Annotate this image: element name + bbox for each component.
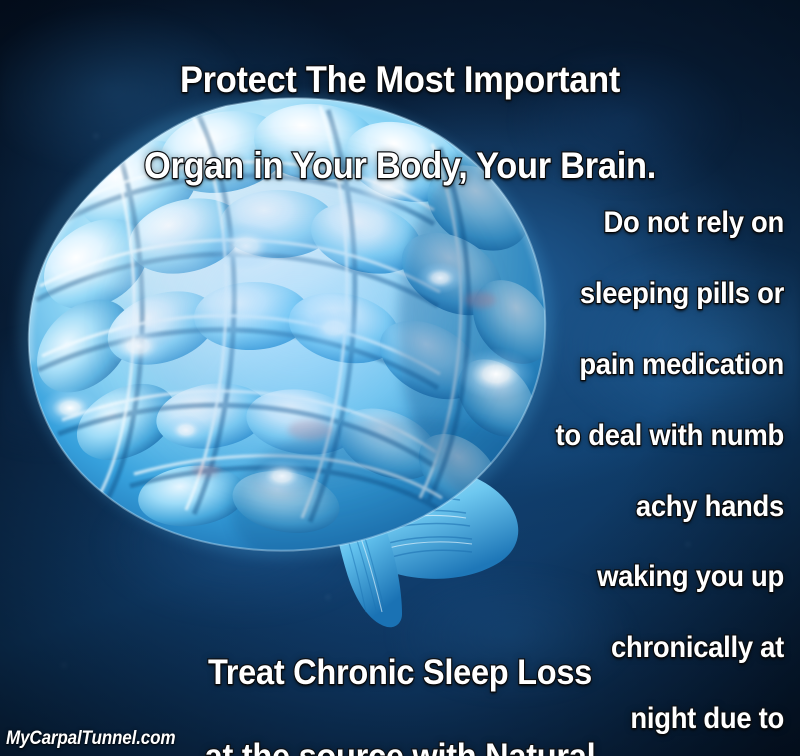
site-watermark: MyCarpalTunnel.com	[6, 728, 175, 750]
side-copy-line-1: Do not rely on	[393, 205, 784, 240]
side-copy-line-6: waking you up	[393, 559, 784, 594]
bottom-copy-line-1: Treat Chronic Sleep Loss	[28, 652, 772, 694]
side-copy-line-3: pain medication	[393, 347, 784, 382]
side-copy-line-5: achy hands	[393, 489, 784, 524]
headline-line-1: Protect The Most Important	[28, 59, 772, 102]
promo-poster: Protect The Most Important Organ in Your…	[0, 0, 800, 756]
side-copy-line-4: to deal with numb	[393, 418, 784, 453]
side-copy-line-2: sleeping pills or	[393, 276, 784, 311]
